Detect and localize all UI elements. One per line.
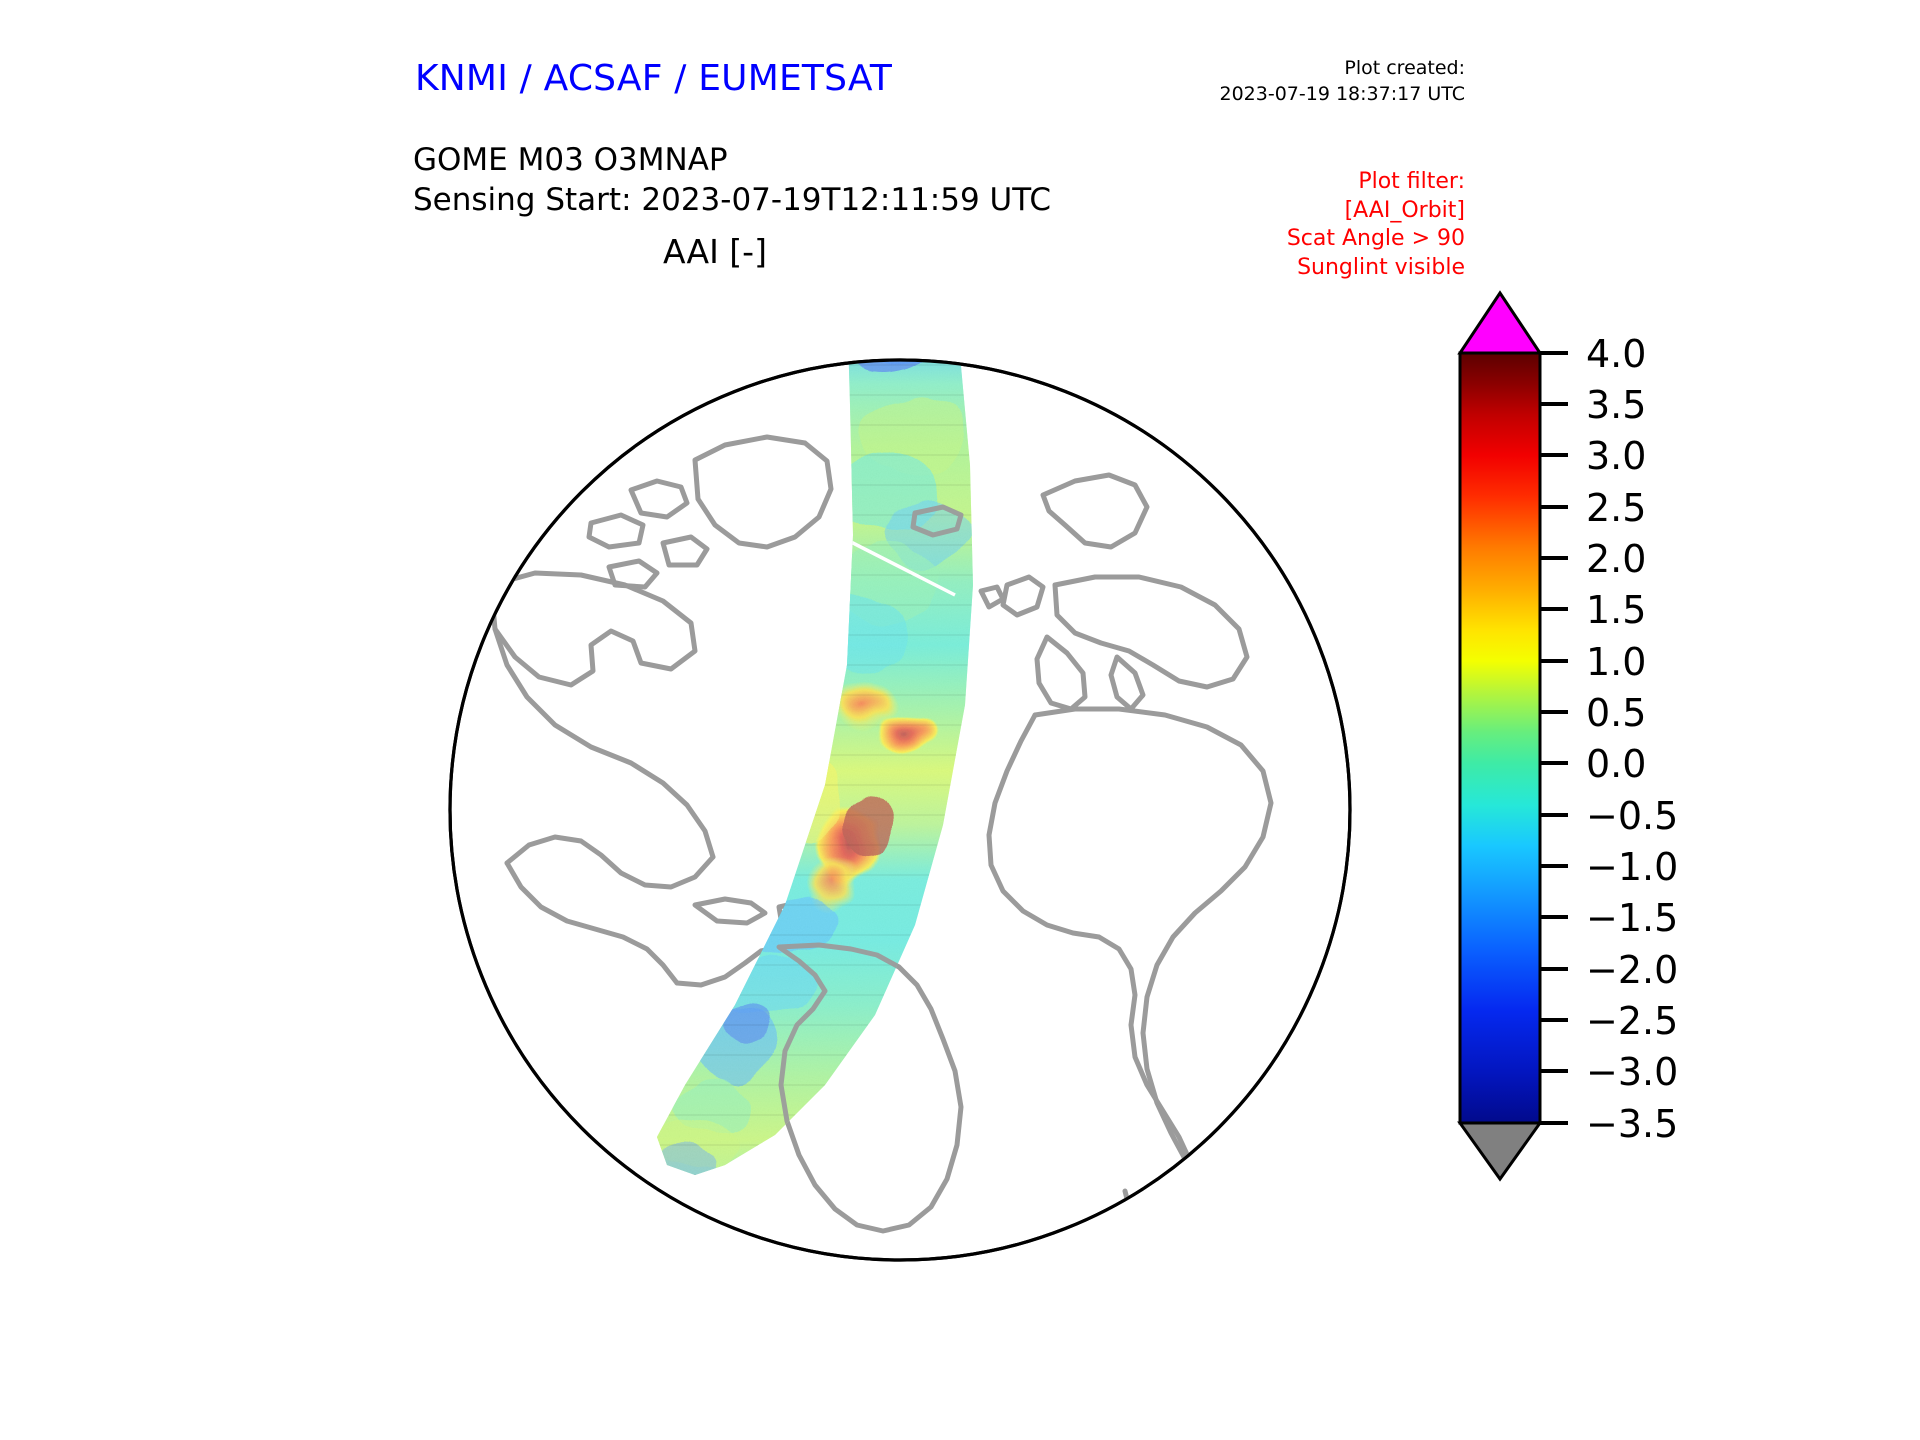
- colorbar: 4.0 3.5 3.0 2.5 2.0 1.5 1.0 0.5 0.0 −0.5…: [1440, 285, 1780, 1345]
- cb-label-4: 2.0: [1586, 537, 1646, 581]
- cb-label-3: 2.5: [1586, 486, 1646, 530]
- plot-created-timestamp: 2023-07-19 18:37:17 UTC: [1220, 82, 1466, 108]
- colorbar-tick-labels: 4.0 3.5 3.0 2.5 2.0 1.5 1.0 0.5 0.0 −0.5…: [1586, 332, 1678, 1146]
- product-name: GOME M03 O3MNAP: [413, 140, 1051, 180]
- cb-label-14: −3.0: [1586, 1050, 1678, 1094]
- product-info-block: GOME M03 O3MNAP Sensing Start: 2023-07-1…: [413, 140, 1051, 221]
- plot-filter-line-0: [AAI_Orbit]: [1287, 197, 1465, 226]
- triangle-down-icon: [1460, 1123, 1540, 1179]
- colorbar-ticks: [1540, 353, 1568, 1123]
- plot-filter-title: Plot filter:: [1287, 168, 1465, 197]
- cb-label-0: 4.0: [1586, 332, 1646, 376]
- globe-icon: [395, 285, 1405, 1325]
- cb-label-7: 0.5: [1586, 691, 1646, 735]
- colorbar-gradient: [1460, 353, 1540, 1123]
- cb-label-12: −2.0: [1586, 948, 1678, 992]
- cb-label-11: −1.5: [1586, 896, 1678, 940]
- plot-created-label: Plot created:: [1220, 56, 1466, 82]
- cb-label-6: 1.0: [1586, 640, 1646, 684]
- cb-label-2: 3.0: [1586, 434, 1646, 478]
- sensing-start: Sensing Start: 2023-07-19T12:11:59 UTC: [413, 180, 1051, 220]
- cb-label-5: 1.5: [1586, 588, 1646, 632]
- plot-created-block: Plot created: 2023-07-19 18:37:17 UTC: [1220, 56, 1466, 107]
- cb-label-8: 0.0: [1586, 742, 1646, 786]
- header-institutions: KNMI / ACSAF / EUMETSAT: [415, 58, 892, 99]
- cb-label-15: −3.5: [1586, 1102, 1678, 1146]
- variable-title: AAI [-]: [0, 232, 1430, 271]
- cb-label-1: 3.5: [1586, 383, 1646, 427]
- cb-label-10: −1.0: [1586, 845, 1678, 889]
- map-plot-area: [395, 285, 1405, 1325]
- triangle-up-icon: [1460, 293, 1540, 353]
- cb-label-9: −0.5: [1586, 794, 1678, 838]
- cb-label-13: −2.5: [1586, 999, 1678, 1043]
